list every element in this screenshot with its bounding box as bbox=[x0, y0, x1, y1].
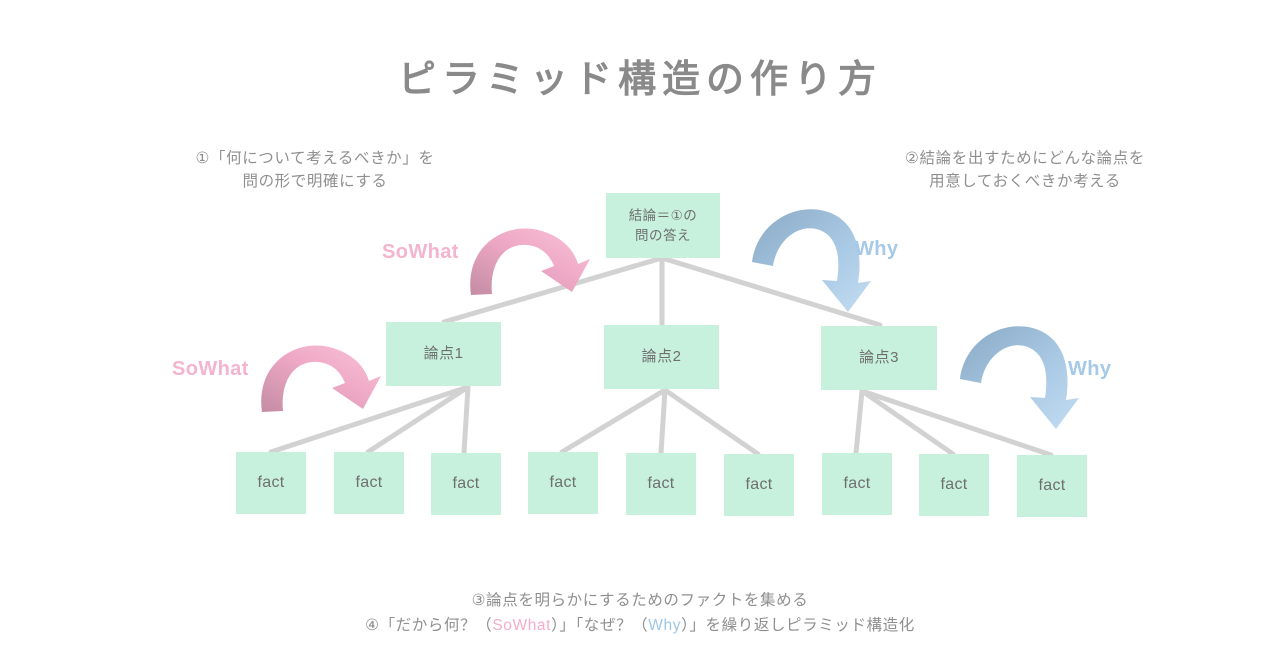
annotation-step-4-sowhat: SoWhat bbox=[492, 617, 551, 634]
fact-box-9-label: fact bbox=[1039, 474, 1066, 497]
fact-box-3-label: fact bbox=[453, 472, 480, 495]
fact-box-4-label: fact bbox=[550, 471, 577, 494]
page-title: ピラミッド構造の作り方 bbox=[0, 48, 1280, 103]
issue-box-3-label: 論点3 bbox=[859, 347, 899, 369]
fact-box-6-label: fact bbox=[746, 473, 773, 496]
issue-box-2[interactable]: 論点2 bbox=[604, 325, 719, 389]
fact-box-6[interactable]: fact bbox=[724, 454, 794, 516]
annotation-step-1-line-1: ①「何について考えるべきか」を bbox=[130, 147, 500, 170]
annotation-step-4: ④「だから何？（SoWhat）」「なぜ？（Why）」を繰り返しピラミッド構造化 bbox=[0, 613, 1280, 638]
why-upper-label: Why bbox=[855, 238, 898, 261]
fact-box-8-label: fact bbox=[941, 473, 968, 496]
issue-box-1[interactable]: 論点1 bbox=[386, 322, 501, 386]
fact-box-5-label: fact bbox=[648, 472, 675, 495]
sowhat-lower-label: SoWhat bbox=[172, 358, 249, 381]
fact-box-2[interactable]: fact bbox=[334, 452, 404, 514]
conclusion-box[interactable]: 結論＝①の 問の答え bbox=[606, 193, 720, 258]
sowhat-upper-label: SoWhat bbox=[382, 241, 459, 264]
annotation-step-4-part-1: ④「だから何？（ bbox=[365, 617, 492, 634]
annotation-step-4-part-2: ）」「なぜ？（ bbox=[551, 617, 648, 634]
fact-box-3[interactable]: fact bbox=[431, 453, 501, 515]
sowhat-upper-arrow bbox=[470, 228, 590, 295]
fact-box-8[interactable]: fact bbox=[919, 454, 989, 516]
diagram-canvas: ピラミッド構造の作り方 bbox=[0, 0, 1280, 671]
annotation-step-2: ②結論を出すためにどんな論点を 用意しておくべきか考える bbox=[835, 147, 1215, 194]
fact-box-7[interactable]: fact bbox=[822, 453, 892, 515]
annotation-step-2-line-2: 用意しておくべきか考える bbox=[835, 170, 1215, 193]
why-upper-arrow bbox=[752, 209, 871, 312]
annotation-step-1: ①「何について考えるべきか」を 問の形で明確にする bbox=[130, 147, 500, 194]
annotation-step-2-line-1: ②結論を出すためにどんな論点を bbox=[835, 147, 1215, 170]
why-lower-label: Why bbox=[1068, 358, 1111, 381]
fact-box-1-label: fact bbox=[258, 471, 285, 494]
issue-box-3[interactable]: 論点3 bbox=[821, 326, 937, 390]
sowhat-lower-arrow bbox=[261, 345, 381, 412]
issue-box-1-label: 論点1 bbox=[424, 343, 464, 365]
fact-box-7-label: fact bbox=[844, 472, 871, 495]
annotation-step-1-line-2: 問の形で明確にする bbox=[130, 170, 500, 193]
annotation-bottom: ③論点を明らかにするためのファクトを集める ④「だから何？（SoWhat）」「な… bbox=[0, 588, 1280, 638]
fact-box-2-label: fact bbox=[356, 471, 383, 494]
annotation-step-4-why: Why bbox=[648, 617, 681, 634]
fact-box-5[interactable]: fact bbox=[626, 453, 696, 515]
conclusion-line-2: 問の答え bbox=[629, 226, 698, 246]
issue-box-2-label: 論点2 bbox=[642, 346, 682, 368]
fact-box-9[interactable]: fact bbox=[1017, 455, 1087, 517]
conclusion-line-1: 結論＝①の bbox=[629, 206, 698, 226]
annotation-step-4-part-3: ）」を繰り返しピラミッド構造化 bbox=[681, 617, 915, 634]
why-lower-arrow bbox=[960, 326, 1079, 429]
fact-box-1[interactable]: fact bbox=[236, 452, 306, 514]
fact-box-4[interactable]: fact bbox=[528, 452, 598, 514]
annotation-step-3: ③論点を明らかにするためのファクトを集める bbox=[0, 588, 1280, 613]
